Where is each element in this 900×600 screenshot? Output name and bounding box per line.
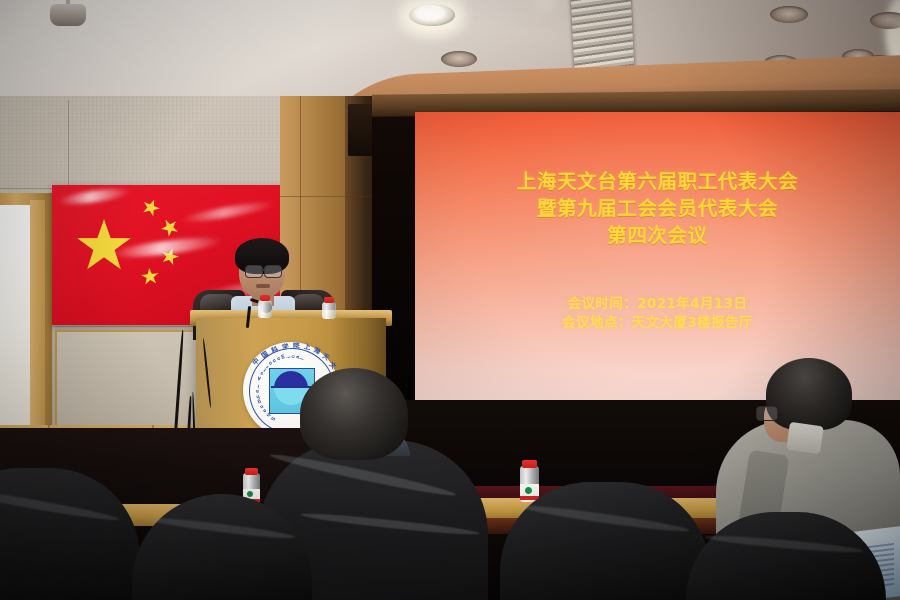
conference-photo: 上海天文台第六届职工代表大会 暨第九届工会会员代表大会 第四次会议 会议时间：2…: [0, 0, 900, 600]
flag-small-star: [139, 196, 162, 219]
slide-title: 上海天文台第六届职工代表大会 暨第九届工会会员代表大会 第四次会议: [415, 168, 900, 249]
flag-glare: [58, 186, 131, 207]
flag-small-star: [140, 267, 160, 286]
water-bottle-podium-right: [322, 302, 336, 319]
attendee-center-hair: [300, 368, 408, 460]
flag-small-star: [158, 215, 183, 240]
bottle-cap: [260, 295, 270, 301]
slide-title-line-2: 暨第九届工会会员代表大会: [415, 195, 900, 222]
slide-title-line-3: 第四次会议: [415, 222, 900, 249]
flag-large-star: [76, 219, 132, 273]
podium-emblem-cn-text: 上: [303, 341, 311, 352]
water-bottle-podium-left: [258, 300, 272, 318]
ceiling-downlight-off: [770, 6, 808, 23]
speaker-eyeglasses-bridge: [261, 269, 265, 271]
bottle-label-green-mark: [525, 487, 532, 494]
column-seam: [280, 196, 370, 197]
attendee-right-collar: [786, 422, 824, 454]
attendee-right-hair: [766, 358, 852, 430]
podium-emblem-cn-text: 院: [293, 340, 300, 350]
podium-emblem-horizon-line: [271, 386, 311, 388]
ceiling-downlight-off: [870, 12, 900, 29]
slide-title-line-1: 上海天文台第六届职工代表大会: [415, 168, 900, 195]
flag-glare: [180, 199, 276, 226]
speaker-mouth: [256, 284, 270, 288]
bottle-cap: [245, 468, 258, 475]
smoke-detector-fixture: [50, 4, 86, 26]
speaker-eyeglasses-right-lens: [264, 265, 282, 278]
slide-meta: 会议时间：2021年4月13日 会议地点：天文大厦3楼报告厅: [415, 295, 900, 333]
slide-meta-time: 会议时间：2021年4月13日: [415, 295, 900, 314]
bottle-cap: [522, 460, 537, 468]
bottle-label-green-mark: [247, 491, 253, 497]
attendee-right-eyeglasses: [756, 406, 778, 421]
ceiling-downlight-off: [441, 51, 477, 67]
slide-meta-location: 会议地点：天文大厦3楼报告厅: [415, 314, 900, 333]
speaker-eyeglasses-left-lens: [245, 265, 263, 278]
ceiling-downlight-on-left: [409, 4, 455, 26]
bottle-cap: [324, 297, 334, 303]
